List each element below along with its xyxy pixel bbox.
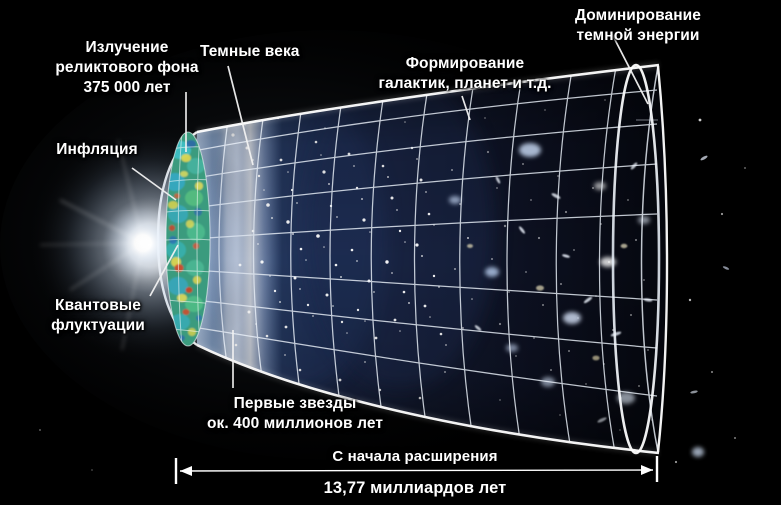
- span-line: [180, 470, 653, 471]
- universe-funnel-illustration: [0, 0, 781, 505]
- big-bang-end: [30, 125, 270, 365]
- cosmic-expansion-figure: Излучение реликтового фона 375 000 лет И…: [0, 0, 781, 505]
